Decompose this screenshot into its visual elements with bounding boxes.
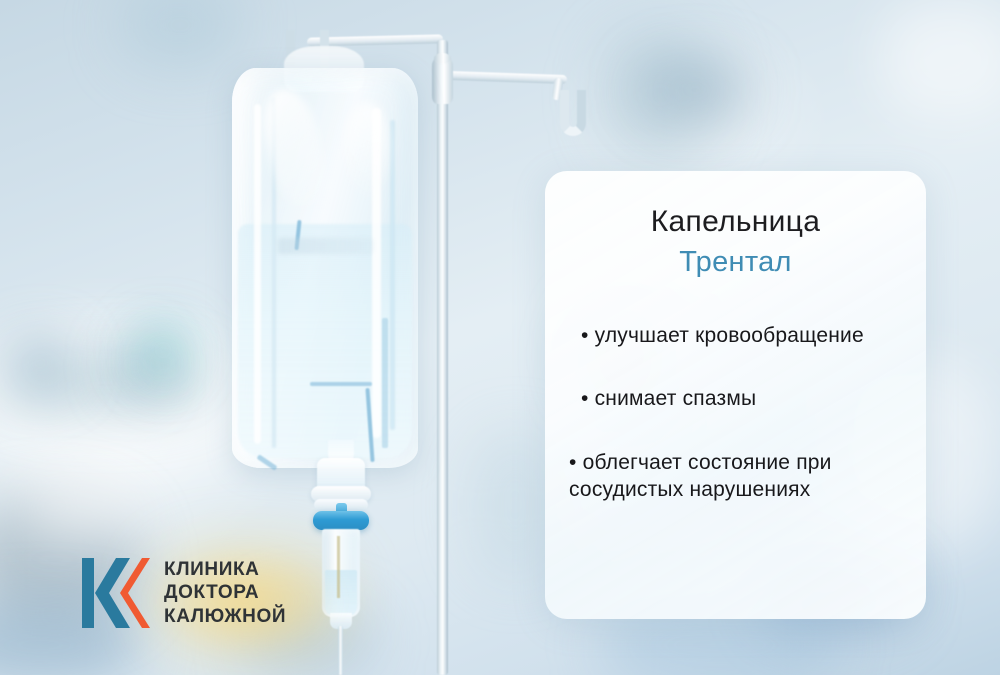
bg-blob: [640, 60, 750, 120]
bg-blob: [120, 0, 240, 70]
list-item: • снимает спазмы: [567, 385, 904, 412]
logo-line-2: ДОКТОРА: [164, 582, 286, 603]
list-item-text: облегчает состояние при сосудистых наруш…: [569, 451, 832, 501]
iv-bag-marking: [382, 318, 388, 448]
iv-stand-cap: [434, 53, 451, 64]
iv-bag-highlight: [344, 102, 390, 198]
iv-bag-seam: [390, 120, 395, 430]
bg-blob: [25, 470, 145, 540]
card-title: Капельница: [567, 205, 904, 239]
kk-monogram-icon: [80, 556, 150, 630]
bg-blob-teal: [140, 332, 186, 368]
list-item: • улучшает кровообращение: [567, 322, 904, 349]
logo-line-1: КЛИНИКА: [164, 559, 286, 580]
list-item-text: улучшает кровообращение: [595, 324, 864, 347]
clinic-logo[interactable]: КЛИНИКА ДОКТОРА КАЛЮЖНОЙ: [80, 556, 286, 630]
bullet-dot-icon: •: [569, 449, 577, 476]
iv-stand-collar: [432, 58, 453, 104]
iv-stand-pole: [437, 40, 448, 675]
logo-line-3: КАЛЮЖНОЙ: [164, 606, 286, 627]
iv-drip-blue-clamp: [313, 511, 369, 530]
iv-bag-seam: [254, 104, 261, 444]
logo-wordmark: КЛИНИКА ДОКТОРА КАЛЮЖНОЙ: [164, 559, 286, 627]
benefits-list: • улучшает кровообращение • снимает спаз…: [567, 322, 904, 503]
iv-bag-label-blur: [278, 238, 374, 254]
bg-blob: [10, 340, 70, 386]
iv-fluid-bag: [232, 68, 418, 468]
iv-bag-marking: [310, 382, 372, 386]
list-item: • облегчает состояние при сосудистых нар…: [567, 449, 904, 504]
card-subtitle: Трентал: [567, 246, 904, 278]
bg-blob: [880, 0, 1000, 120]
list-item-text: снимает спазмы: [595, 387, 757, 410]
iv-hook-right: [560, 90, 586, 136]
info-card: Капельница Трентал • улучшает кровообращ…: [545, 171, 926, 619]
bullet-dot-icon: •: [581, 385, 589, 412]
bullet-dot-icon: •: [581, 322, 589, 349]
banner-stage: Капельница Трентал • улучшает кровообращ…: [0, 0, 1000, 675]
